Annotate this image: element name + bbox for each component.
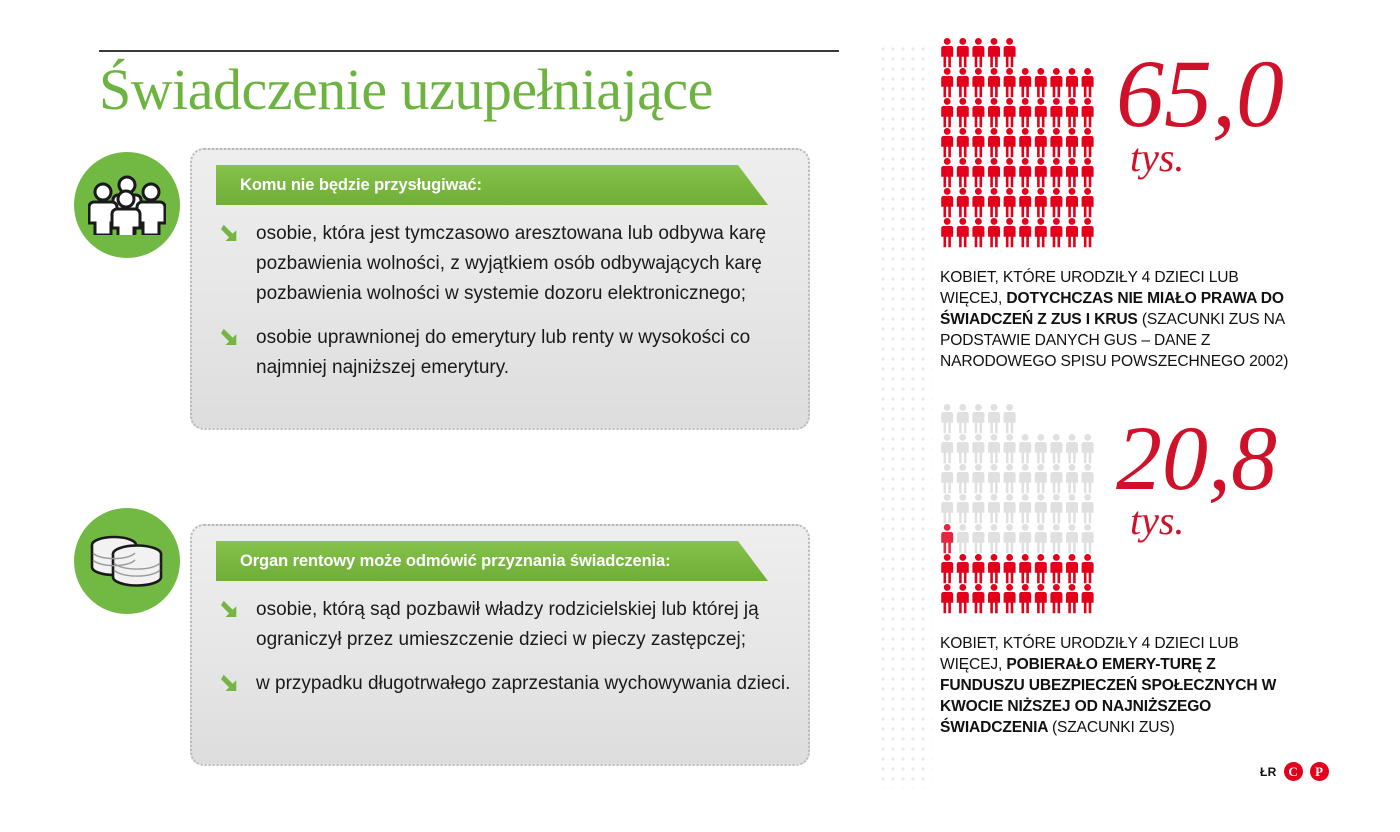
- pictogram-figure-icon: [1004, 434, 1016, 463]
- coins-stack-icon: [74, 508, 180, 614]
- left-content-column: Świadczenie uzupełniające: [0, 0, 868, 832]
- pictogram-figure-icon: [957, 68, 969, 97]
- pictogram-figure-icon: [988, 98, 1000, 127]
- pictogram-grid-svg: [940, 38, 1110, 253]
- pictogram-figure-icon: [1082, 68, 1094, 97]
- caption-text: (SZACUNKI ZUS): [1052, 719, 1175, 736]
- pictogram-figure-icon: [1035, 434, 1047, 463]
- pictogram-figure-icon: [972, 158, 984, 187]
- pictogram-figure-icon: [1019, 464, 1031, 493]
- pictogram-figure-icon: [941, 68, 953, 97]
- pictogram-figure-icon: [1004, 524, 1016, 553]
- pictogram-figure-icon: [941, 158, 953, 187]
- pictogram-figure-icon: [1004, 404, 1016, 433]
- pictogram-chart-20k: 20,8 tys.: [940, 404, 1360, 619]
- pictogram-figure-icon: [1035, 494, 1047, 523]
- pictogram-figure-icon: [988, 188, 1000, 217]
- pictogram-figure-icon: [1035, 218, 1047, 247]
- pictogram-figure-icon: [957, 98, 969, 127]
- pictogram-figure-icon: [1066, 128, 1078, 157]
- pictogram-figure-icon: [1019, 158, 1031, 187]
- pictogram-figure-icon: [1035, 554, 1047, 583]
- logo-c-icon: C: [1284, 762, 1303, 781]
- panel-header-label: Organ rentowy może odmówić przyznania św…: [216, 552, 671, 571]
- pictogram-figure-icon: [957, 38, 969, 67]
- pictogram-figure-icon: [988, 68, 1000, 97]
- pictogram-figure-icon: [1082, 554, 1094, 583]
- pictogram-figure-icon: [972, 188, 984, 217]
- list-item: osobie uprawnionej do emerytury lub rent…: [192, 323, 808, 383]
- pictogram-figure-icon: [941, 494, 953, 523]
- pictogram-figure-icon: [957, 218, 969, 247]
- pictogram-figure-icon: [941, 404, 953, 433]
- pictogram-figure-icon: [941, 524, 953, 553]
- pictogram-figure-icon: [1082, 464, 1094, 493]
- pictogram-figure-icon: [1019, 98, 1031, 127]
- arrow-down-right-icon-svg: [218, 326, 242, 350]
- pictogram-figure-icon: [1035, 464, 1047, 493]
- pictogram-figure-icon: [972, 464, 984, 493]
- pictogram-figure-icon: [1004, 464, 1016, 493]
- pictogram-figure-icon: [1035, 188, 1047, 217]
- pictogram-figure-icon: [941, 98, 953, 127]
- arrow-down-right-icon-svg: [218, 598, 242, 622]
- pictogram-figure-icon: [957, 524, 969, 553]
- pictogram-figure-icon: [1066, 584, 1078, 613]
- list-item-text: w przypadku długotrwałego zaprzestania w…: [256, 673, 790, 694]
- pictogram-figure-icon: [1066, 524, 1078, 553]
- stat-value-20k: 20,8 tys.: [1116, 416, 1277, 539]
- pictogram-figure-icon: [988, 524, 1000, 553]
- pictogram-figure-icon: [972, 494, 984, 523]
- list-item-text: osobie uprawnionej do emerytury lub rent…: [256, 327, 750, 378]
- list-item: w przypadku długotrwałego zaprzestania w…: [192, 669, 808, 699]
- pictogram-figure-icon: [972, 404, 984, 433]
- page-title: Świadczenie uzupełniające: [99, 58, 859, 123]
- pictogram-figure-icon: [941, 218, 953, 247]
- panel-list-exclusions: osobie, która jest tymczasowo aresztowan…: [192, 219, 808, 383]
- pictogram-figure-icon: [957, 188, 969, 217]
- pictogram-figure-icon: [1082, 524, 1094, 553]
- pictogram-figure-icon: [1004, 188, 1016, 217]
- pictogram-figure-icon: [1050, 524, 1062, 553]
- pictogram-figure-icon: [1066, 464, 1078, 493]
- pictogram-figure-icon: [957, 494, 969, 523]
- pictogram-figure-icon: [941, 464, 953, 493]
- stat-block-65k: 65,0 tys. KOBIET, KTÓRE URODZIŁY 4 DZIEC…: [940, 38, 1360, 372]
- pictogram-figure-icon: [1035, 584, 1047, 613]
- panel-list-refusals: osobie, którą sąd pozbawił władzy rodzic…: [192, 595, 808, 699]
- pictogram-figure-icon: [1019, 584, 1031, 613]
- pictogram-figure-icon: [1019, 434, 1031, 463]
- pictogram-figure-icon: [972, 128, 984, 157]
- pictogram-figure-icon: [1082, 128, 1094, 157]
- info-panel-exclusions: Komu nie będzie przysługiwać: osobie, kt…: [190, 148, 810, 430]
- panel-header-refusals: Organ rentowy może odmówić przyznania św…: [216, 541, 768, 581]
- pictogram-figure-icon: [1050, 68, 1062, 97]
- pictogram-grid-svg: [940, 404, 1110, 619]
- pictogram-figure-icon: [988, 434, 1000, 463]
- pictogram-figure-icon: [1082, 188, 1094, 217]
- pictogram-figure-icon: [1050, 128, 1062, 157]
- stat-value-number: 20,8: [1116, 407, 1277, 509]
- pictogram-figure-icon: [1082, 434, 1094, 463]
- pictogram-figure-icon: [972, 524, 984, 553]
- pictogram-figure-icon: [1019, 218, 1031, 247]
- pictogram-chart-65k: 65,0 tys.: [940, 38, 1360, 253]
- pictogram-figure-icon: [1004, 158, 1016, 187]
- pictogram-figure-icon: [1082, 158, 1094, 187]
- people-group-icon-svg: [88, 175, 166, 235]
- list-item-text: osobie, która jest tymczasowo aresztowan…: [256, 223, 766, 304]
- pictogram-figure-icon: [957, 128, 969, 157]
- pictogram-figure-icon: [1019, 524, 1031, 553]
- pictogram-figure-icon: [1066, 98, 1078, 127]
- info-panel-refusals: Organ rentowy może odmówić przyznania św…: [190, 524, 810, 766]
- pictogram-figure-icon: [1066, 68, 1078, 97]
- pictogram-figure-icon: [988, 554, 1000, 583]
- pictogram-figure-icon: [1035, 524, 1047, 553]
- arrow-down-right-icon: [218, 222, 242, 246]
- pictogram-figure-icon: [1019, 128, 1031, 157]
- list-item: osobie, którą sąd pozbawił władzy rodzic…: [192, 595, 808, 655]
- stat-block-20k: 20,8 tys. KOBIET, KTÓRE URODZIŁY 4 DZIEC…: [940, 404, 1360, 738]
- pictogram-figure-icon: [1019, 494, 1031, 523]
- pictogram-figure-icon: [941, 434, 953, 463]
- pictogram-figure-icon: [1066, 434, 1078, 463]
- title-divider-rule: [99, 50, 839, 52]
- pictogram-figure-icon: [972, 38, 984, 67]
- pictogram-figure-icon: [941, 188, 953, 217]
- pictogram-figure-icon: [957, 464, 969, 493]
- pictogram-figure-icon: [988, 494, 1000, 523]
- pictogram-figure-icon: [941, 38, 953, 67]
- pictogram-figure-icon: [988, 128, 1000, 157]
- pictogram-figure-icon: [957, 158, 969, 187]
- pictogram-figure-icon: [1019, 188, 1031, 217]
- pictogram-figure-icon: [972, 584, 984, 613]
- pictogram-figure-icon: [988, 38, 1000, 67]
- pictogram-figure-icon: [1004, 38, 1016, 67]
- pictogram-figure-icon: [1066, 158, 1078, 187]
- pictogram-figure-icon: [1035, 128, 1047, 157]
- pictogram-figure-icon: [1050, 434, 1062, 463]
- pictogram-figure-icon: [988, 584, 1000, 613]
- people-group-icon: [74, 152, 180, 258]
- pictogram-figure-icon: [1082, 584, 1094, 613]
- pictogram-figure-icon: [972, 218, 984, 247]
- arrow-down-right-icon: [218, 326, 242, 350]
- coins-stack-icon-svg: [87, 529, 167, 593]
- pictogram-figure-icon: [957, 404, 969, 433]
- pictogram-figure-icon: [1004, 128, 1016, 157]
- pictogram-figure-icon: [1066, 218, 1078, 247]
- pictogram-figure-icon: [1004, 98, 1016, 127]
- pictogram-figure-icon: [1050, 494, 1062, 523]
- arrow-down-right-icon-svg: [218, 222, 242, 246]
- pictogram-figure-icon: [1004, 68, 1016, 97]
- pictogram-figure-icon: [972, 434, 984, 463]
- pictogram-figure-icon: [1050, 584, 1062, 613]
- pictogram-figure-icon: [1082, 218, 1094, 247]
- pictogram-figure-icon: [1066, 554, 1078, 583]
- pictogram-figure-icon: [1050, 188, 1062, 217]
- stat-value-65k: 65,0 tys.: [1116, 50, 1284, 177]
- pictogram-figure-icon: [972, 68, 984, 97]
- stat-caption-65k: KOBIET, KTÓRE URODZIŁY 4 DZIECI LUB WIĘC…: [940, 267, 1298, 372]
- pictogram-figure-icon: [1050, 98, 1062, 127]
- list-item: osobie, która jest tymczasowo aresztowan…: [192, 219, 808, 309]
- dotted-column-divider: [878, 44, 932, 788]
- logo-p-icon: P: [1310, 762, 1329, 781]
- stat-caption-20k: KOBIET, KTÓRE URODZIŁY 4 DZIECI LUB WIĘC…: [940, 633, 1298, 738]
- pictogram-figure-icon: [1082, 494, 1094, 523]
- right-statistics-column: 65,0 tys. KOBIET, KTÓRE URODZIŁY 4 DZIEC…: [940, 0, 1400, 832]
- arrow-down-right-icon-svg: [218, 672, 242, 696]
- credit-block: ŁR C P: [1260, 762, 1329, 781]
- pictogram-figure-icon: [988, 218, 1000, 247]
- pictogram-figure-icon: [1035, 158, 1047, 187]
- pictogram-figure-icon: [957, 554, 969, 583]
- arrow-down-right-icon: [218, 672, 242, 696]
- pictogram-figure-icon: [972, 98, 984, 127]
- pictogram-figure-icon: [1066, 494, 1078, 523]
- pictogram-figure-icon: [1066, 188, 1078, 217]
- pictogram-figure-icon: [941, 128, 953, 157]
- pictogram-figure-icon: [941, 584, 953, 613]
- pictogram-figure-icon: [1050, 218, 1062, 247]
- panel-header-label: Komu nie będzie przysługiwać:: [216, 176, 482, 195]
- pictogram-figure-icon: [1050, 554, 1062, 583]
- pictogram-figure-icon: [1004, 494, 1016, 523]
- panel-header-exclusions: Komu nie będzie przysługiwać:: [216, 165, 768, 205]
- pictogram-figure-icon: [957, 584, 969, 613]
- pictogram-figure-icon: [988, 464, 1000, 493]
- pictogram-figure-icon: [957, 434, 969, 463]
- pictogram-figure-icon: [972, 554, 984, 583]
- author-initials: ŁR: [1260, 765, 1277, 779]
- pictogram-figure-icon: [1019, 554, 1031, 583]
- pictogram-figure-icon: [1050, 158, 1062, 187]
- pictogram-figure-icon: [1082, 98, 1094, 127]
- stat-value-number: 65,0: [1116, 40, 1284, 147]
- pictogram-figure-icon: [1035, 68, 1047, 97]
- pictogram-figure-icon: [1050, 464, 1062, 493]
- pictogram-figure-icon: [1004, 554, 1016, 583]
- pictogram-figure-icon: [988, 158, 1000, 187]
- arrow-down-right-icon: [218, 598, 242, 622]
- pictogram-figure-icon: [941, 554, 953, 583]
- pictogram-figure-icon: [1035, 98, 1047, 127]
- pictogram-figure-icon: [1019, 68, 1031, 97]
- pictogram-figure-icon: [988, 404, 1000, 433]
- pictogram-figure-icon: [1004, 584, 1016, 613]
- pictogram-figure-icon: [1004, 218, 1016, 247]
- list-item-text: osobie, którą sąd pozbawił władzy rodzic…: [256, 599, 759, 650]
